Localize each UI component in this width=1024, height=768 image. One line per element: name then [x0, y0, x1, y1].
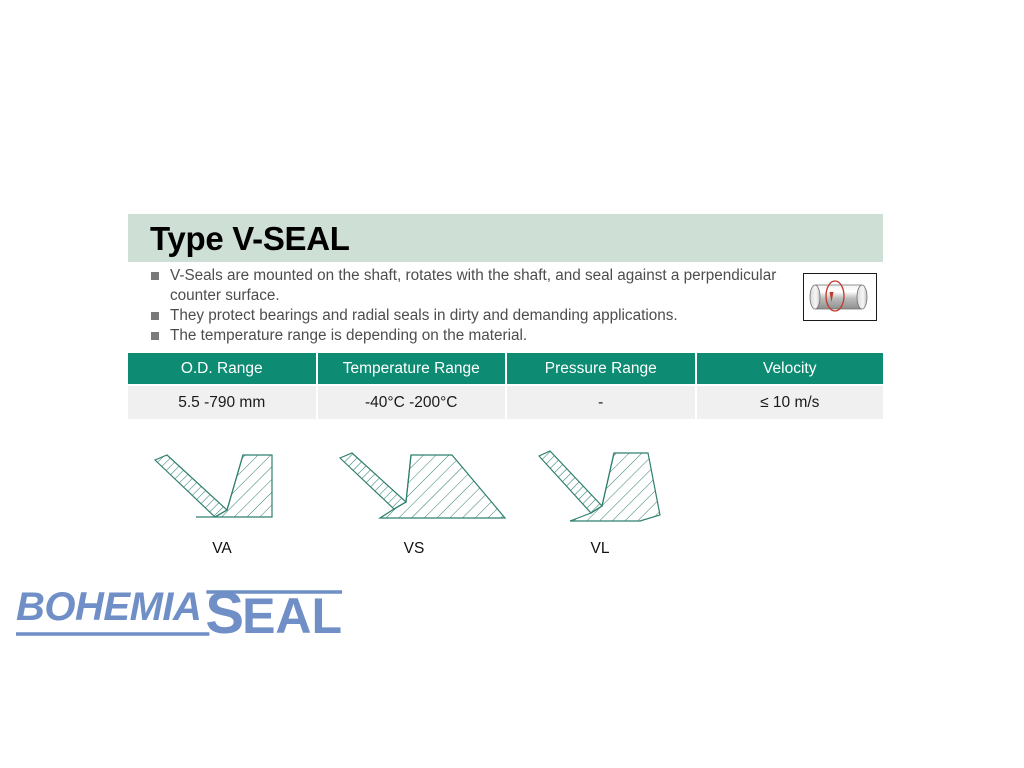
slide-page: Type V-SEAL V-Seals are mounted on the s…: [0, 0, 1024, 768]
bohemia-seal-logo: BOHEMIA S EAL: [14, 578, 394, 648]
bullet-square-icon: [151, 312, 159, 320]
table-header-cell-od-range: O.D. Range: [128, 353, 316, 384]
table-header-cell-velocity: Velocity: [697, 353, 884, 384]
logo-eal-text: EAL: [242, 588, 342, 644]
table-cell-temperature-range: -40°C -200°C: [318, 386, 506, 419]
table-header-cell-temperature-range: Temperature Range: [318, 353, 506, 384]
table-row: 5.5 -790 mm -40°C -200°C - ≤ 10 m/s: [128, 386, 883, 419]
page-title: Type V-SEAL: [150, 219, 350, 259]
seal-profile-vl-label: VL: [560, 540, 640, 558]
rotating-shaft-icon: [803, 273, 877, 321]
seal-profile-va-label: VA: [182, 540, 262, 558]
logo-bohemia-text: BOHEMIA: [16, 585, 201, 629]
table-cell-od-range: 5.5 -790 mm: [128, 386, 316, 419]
table-cell-velocity: ≤ 10 m/s: [697, 386, 884, 419]
bullet-square-icon: [151, 332, 159, 340]
list-item: V-Seals are mounted on the shaft, rotate…: [150, 266, 790, 306]
spec-table: O.D. Range Temperature Range Pressure Ra…: [128, 353, 883, 419]
feature-bullet-list: V-Seals are mounted on the shaft, rotate…: [150, 266, 790, 346]
seal-profile-vs-label: VS: [374, 540, 454, 558]
table-header-row: O.D. Range Temperature Range Pressure Ra…: [128, 353, 883, 384]
bullet-square-icon: [151, 272, 159, 280]
table-cell-pressure-range: -: [507, 386, 695, 419]
table-header-cell-pressure-range: Pressure Range: [507, 353, 695, 384]
list-item-label: They protect bearings and radial seals i…: [170, 307, 678, 324]
list-item: They protect bearings and radial seals i…: [150, 306, 790, 326]
list-item-label: V-Seals are mounted on the shaft, rotate…: [170, 267, 776, 304]
list-item: The temperature range is depending on th…: [150, 326, 790, 346]
list-item-label: The temperature range is depending on th…: [170, 327, 527, 344]
